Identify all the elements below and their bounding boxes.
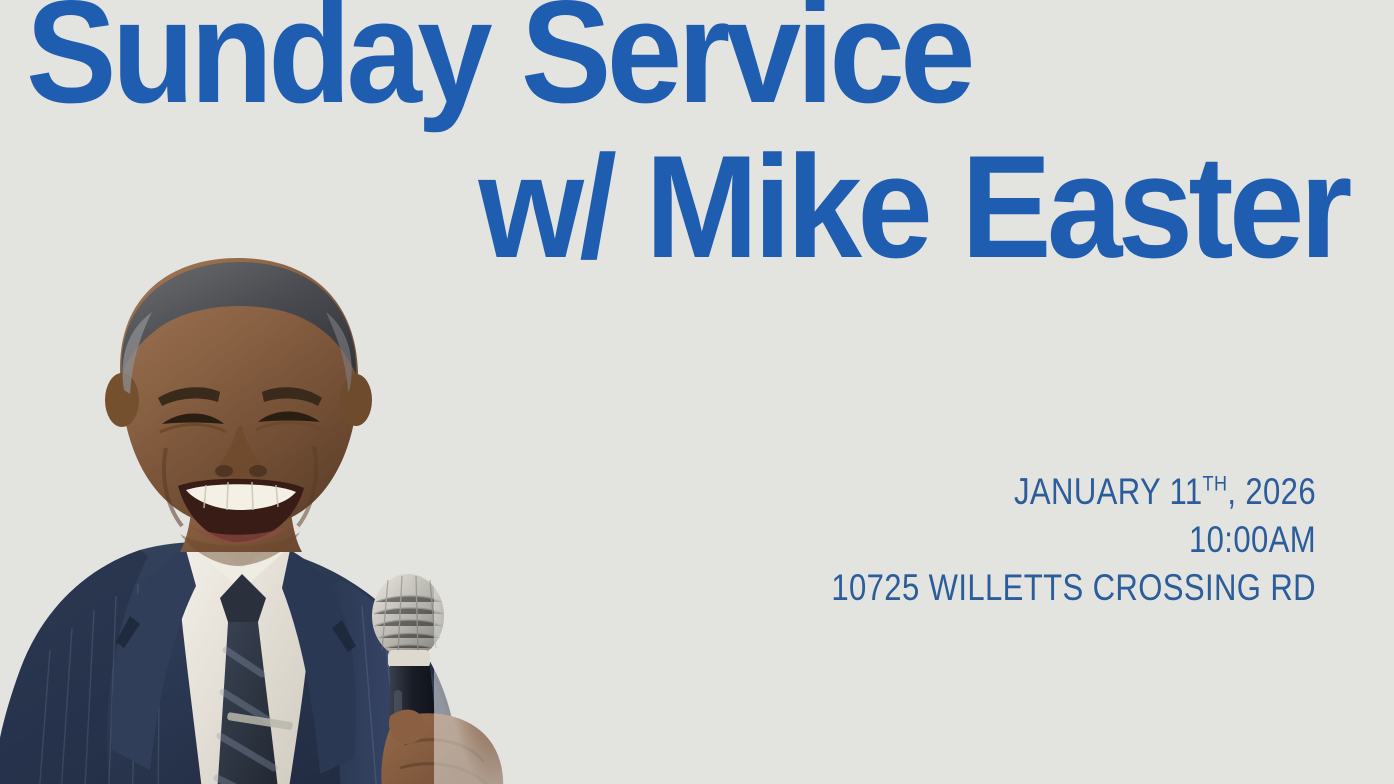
event-info-block: JANUARY 11TH, 2026 10:00AM 10725 WILLETT… [739,468,1316,612]
event-date-suffix: , 2026 [1227,471,1316,512]
mic-band [388,650,430,668]
ear-right [340,374,372,426]
event-date-ordinal: TH [1203,472,1228,496]
headline-line-2: w/ Mike Easter [479,141,1348,272]
event-date: JANUARY 11TH, 2026 [831,468,1316,516]
ear-left [105,373,139,427]
event-time: 10:00AM [831,516,1316,564]
headline-line-1: Sunday Service [26,0,971,117]
speaker-photo [0,250,550,784]
flyer-canvas: Sunday Service w/ Mike Easter JANUARY 11… [0,0,1394,784]
event-date-prefix: JANUARY 11 [1014,471,1203,512]
event-address: 10725 WILLETTS CROSSING RD [831,564,1316,612]
